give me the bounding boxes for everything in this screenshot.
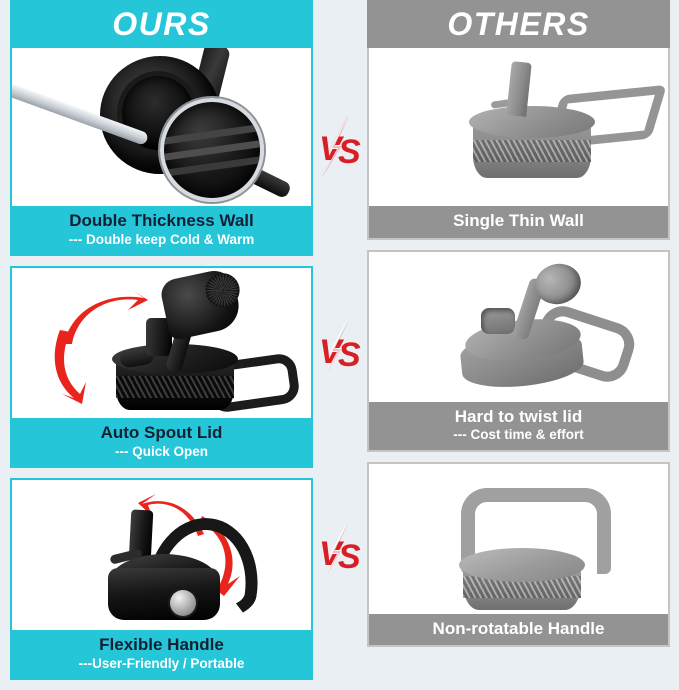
caption-ours-flexible-handle: Flexible Handle ---User-Friendly / Porta…: [12, 630, 311, 678]
caption-ours-double-wall: Double Thickness Wall --- Double keep Co…: [12, 206, 311, 254]
panel-others-hard-twist-lid: Hard to twist lid --- Cost time & effort: [367, 250, 670, 452]
lid-knurl-texture: [116, 376, 234, 398]
product-image-auto-spout-lid: [12, 268, 311, 418]
vs-icon: V S: [318, 115, 364, 177]
product-image-hard-twist-lid: [369, 252, 668, 402]
product-image-non-rotatable-handle: [369, 464, 668, 614]
caption-title: Hard to twist lid: [373, 407, 664, 427]
column-others: OTHERS Single Thin Wall: [367, 0, 670, 657]
panel-others-non-rotatable-handle: Non-rotatable Handle: [367, 462, 670, 648]
lid-cap-shape: [159, 268, 244, 341]
lid-top-shape: [469, 106, 595, 138]
caption-subtitle: ---User-Friendly / Portable: [16, 656, 307, 672]
svg-text:S: S: [338, 538, 361, 576]
vs-badge-row-3: V S: [318, 520, 364, 582]
panel-others-single-wall: Single Thin Wall: [367, 48, 670, 240]
spout-shape: [481, 308, 515, 334]
caption-others-single-wall: Single Thin Wall: [369, 206, 668, 238]
column-header-ours: OURS: [10, 0, 313, 48]
panel-ours-double-wall: Double Thickness Wall --- Double keep Co…: [10, 48, 313, 256]
vs-badge-row-2: V S: [318, 318, 364, 380]
product-image-flexible-handle: [12, 480, 311, 630]
column-header-others: OTHERS: [367, 0, 670, 48]
caption-others-hard-twist-lid: Hard to twist lid --- Cost time & effort: [369, 402, 668, 450]
caption-others-non-rotatable-handle: Non-rotatable Handle: [369, 614, 668, 646]
vs-icon: V S: [318, 520, 364, 582]
lid-knurl-texture: [473, 140, 591, 162]
caption-subtitle: --- Double keep Cold & Warm: [16, 232, 307, 248]
caption-title: Flexible Handle: [16, 635, 307, 655]
caption-subtitle: --- Quick Open: [16, 444, 307, 460]
panel-ours-flexible-handle: Flexible Handle ---User-Friendly / Porta…: [10, 478, 313, 680]
caption-subtitle: --- Cost time & effort: [373, 427, 664, 443]
caption-title: Auto Spout Lid: [16, 423, 307, 443]
product-image-double-wall-cutaway: [12, 48, 311, 206]
svg-text:S: S: [338, 336, 361, 374]
rotation-arrow-down-icon: [48, 326, 106, 404]
caption-title: Double Thickness Wall: [16, 211, 307, 231]
handle-pivot-shape: [170, 590, 196, 616]
vs-icon: V S: [318, 318, 364, 380]
caption-title: Single Thin Wall: [373, 211, 664, 231]
lid-top-shape: [459, 548, 585, 582]
caption-title: Non-rotatable Handle: [373, 619, 664, 639]
svg-text:S: S: [338, 133, 361, 171]
column-ours: OURS Double Thickness Wall --- Double ke…: [10, 0, 313, 690]
magnifier-lens-shape: [160, 98, 264, 202]
bottle-body-shape: [108, 568, 220, 620]
caption-ours-auto-spout-lid: Auto Spout Lid --- Quick Open: [12, 418, 311, 466]
vs-badge-row-1: V S: [318, 115, 364, 177]
comparison-infographic: OURS Double Thickness Wall --- Double ke…: [0, 0, 679, 679]
panel-ours-auto-spout-lid: Auto Spout Lid --- Quick Open: [10, 266, 313, 468]
product-image-single-wall-lid: [369, 48, 668, 206]
